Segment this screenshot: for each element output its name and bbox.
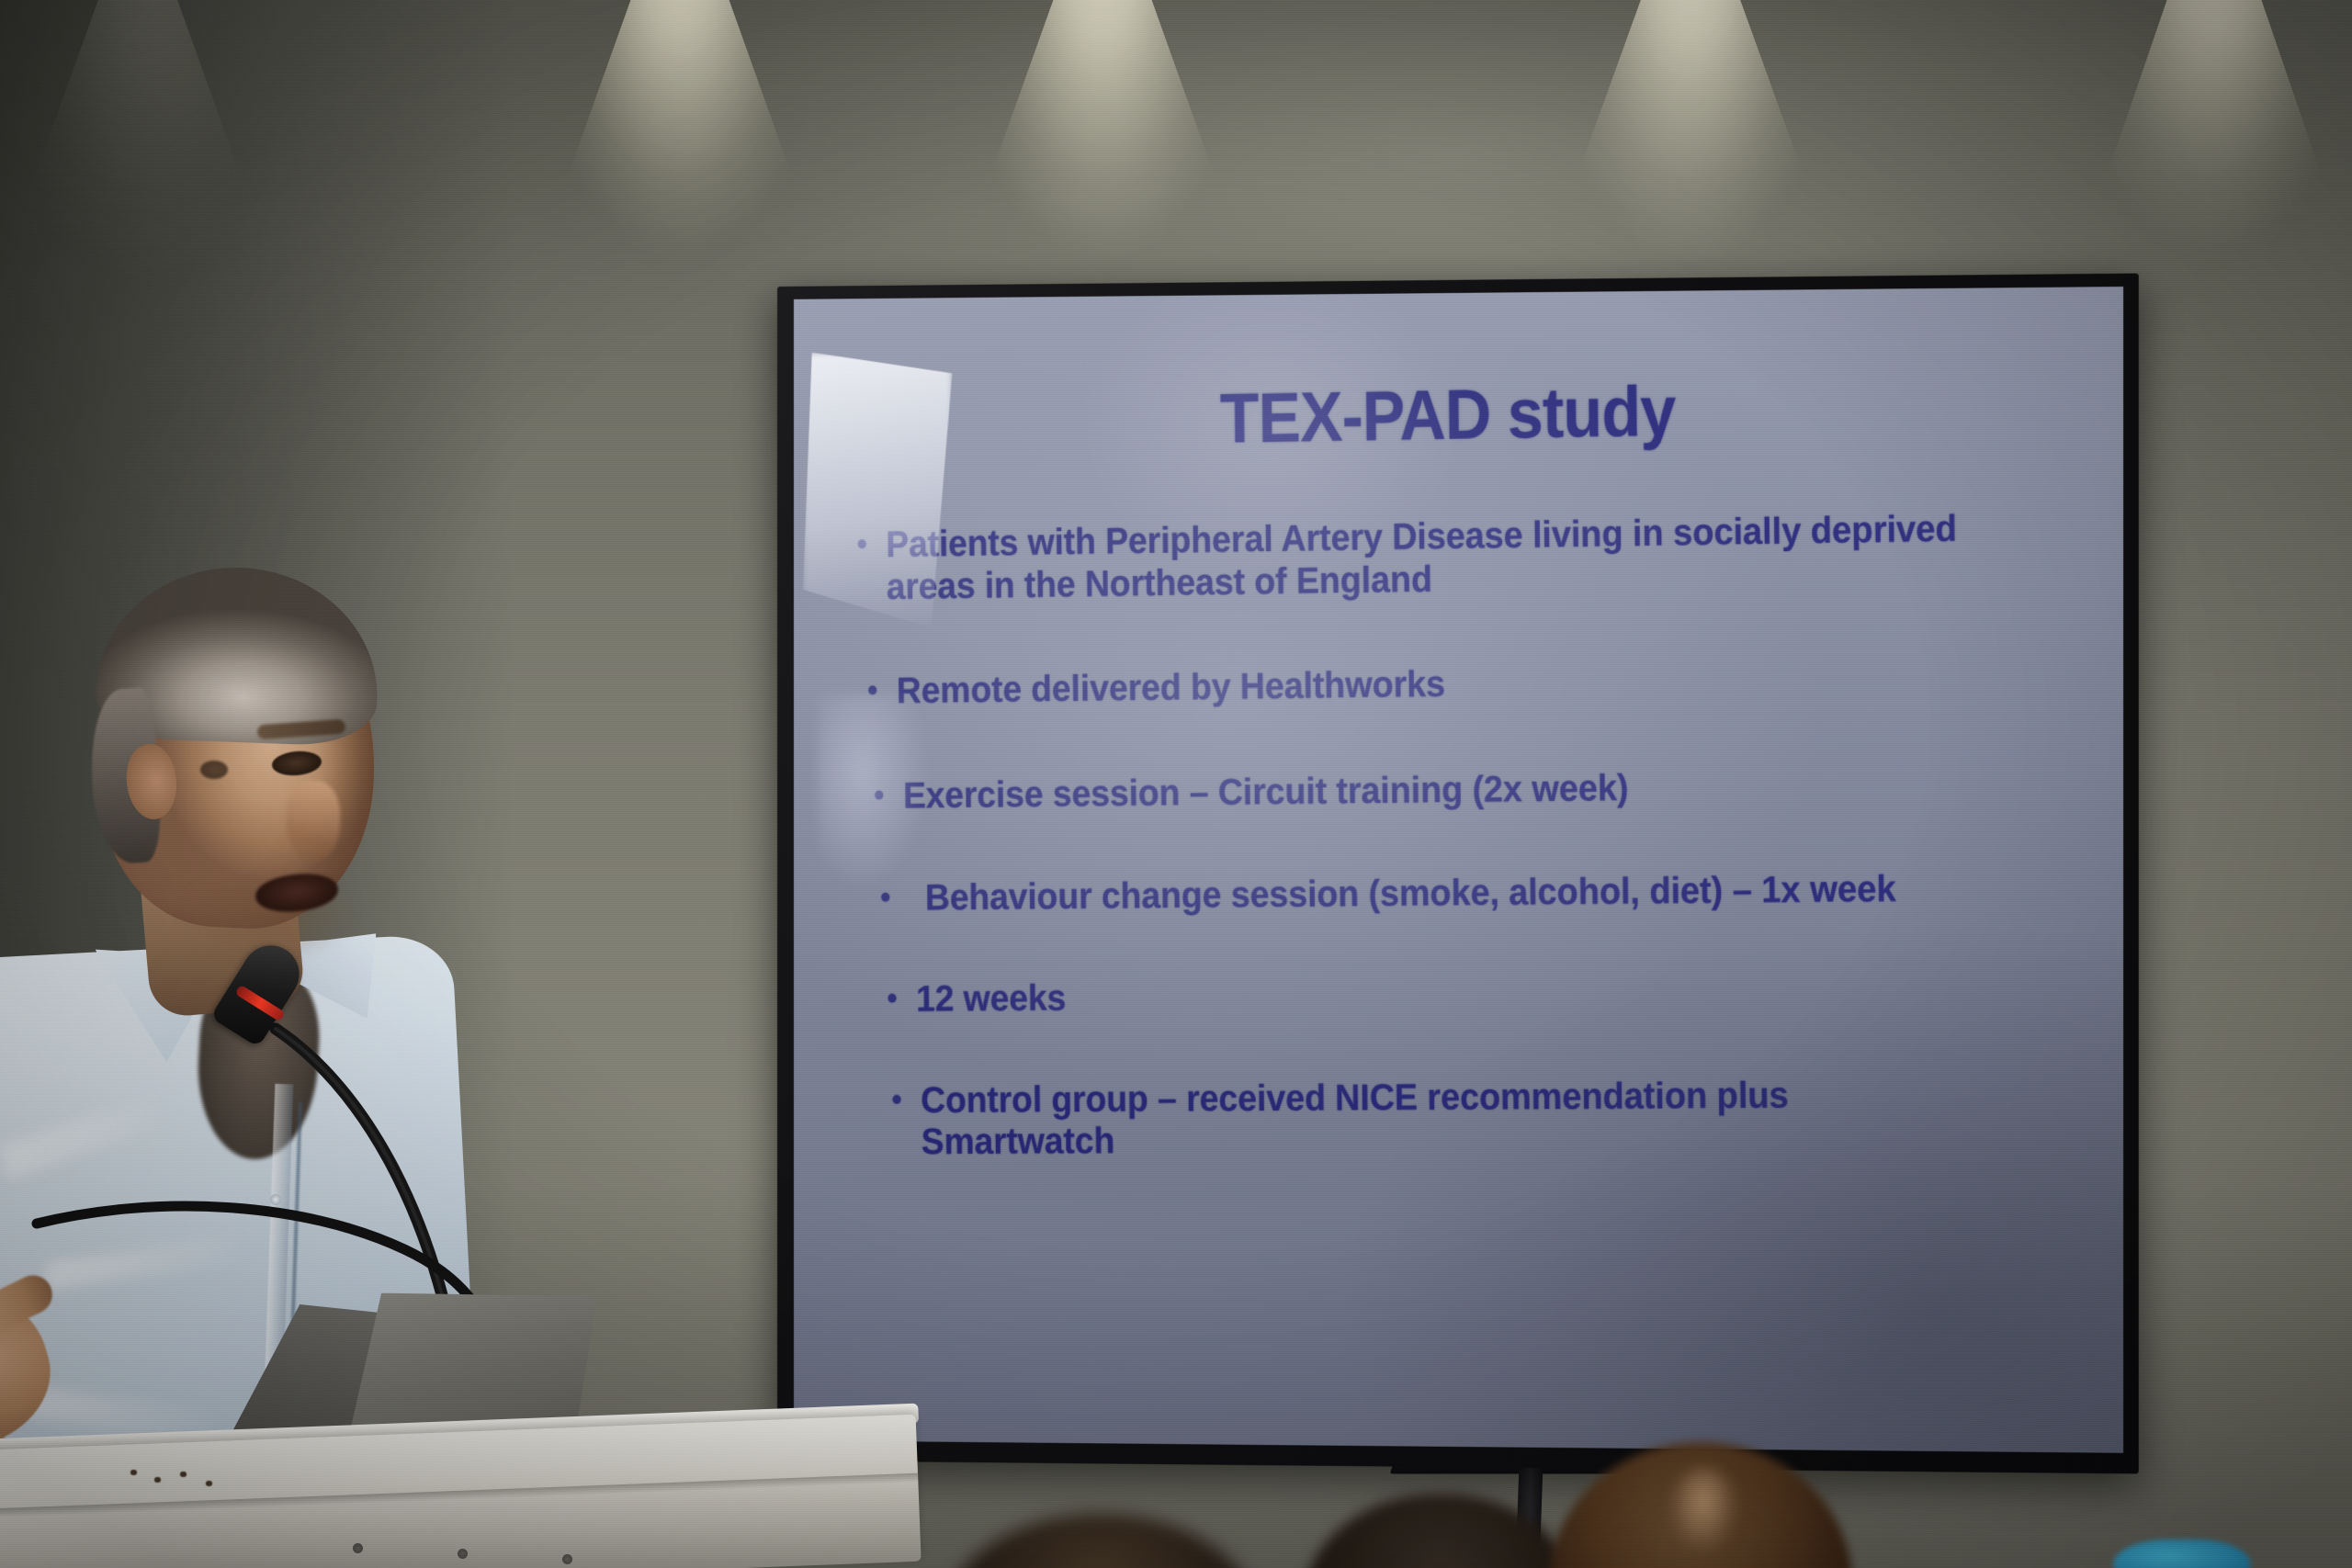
presentation-photo-scene: TEX-PAD study • Patients with Peripheral… — [0, 0, 2352, 1568]
lectern-hole — [353, 1543, 363, 1553]
audience-head-highlight — [1668, 1468, 1738, 1552]
slide-bullet-item: • Exercise session – Circuit training (2… — [874, 763, 1984, 818]
lectern-debris — [130, 1470, 137, 1475]
wall-display: TEX-PAD study • Patients with Peripheral… — [777, 274, 2139, 1474]
speaker-nose — [287, 781, 340, 862]
bullet-marker-icon: • — [891, 1080, 921, 1120]
bullet-marker-icon: • — [887, 979, 916, 1019]
slide-bullet-item: • 12 weeks — [887, 971, 1986, 1021]
lectern-debris — [206, 1481, 212, 1486]
slide-bullet-text: Exercise session – Circuit training (2x … — [903, 763, 1984, 818]
slide-bullet-item: • Behaviour change session (smoke, alcoh… — [880, 868, 1985, 920]
bullet-marker-icon: • — [874, 775, 903, 815]
shirt-button — [270, 1194, 281, 1205]
lectern-hole — [458, 1549, 468, 1559]
lectern-hole — [562, 1554, 572, 1564]
display-screen: TEX-PAD study • Patients with Peripheral… — [794, 287, 2123, 1453]
speaker-eye — [200, 761, 228, 779]
bullet-marker-icon: • — [880, 878, 910, 918]
slide-bullet-text: Remote delivered by Healthworks — [897, 657, 1983, 713]
lectern-debris — [180, 1472, 187, 1477]
slide-bullet-text: Control group – received NICE recommenda… — [921, 1073, 1988, 1164]
bullet-marker-icon: • — [856, 525, 886, 564]
slide-bullet-item: • Control group – received NICE recommen… — [891, 1073, 1988, 1164]
slide-bullet-item: • Remote delivered by Healthworks — [867, 657, 1983, 713]
slide-bullet-text: 12 weeks — [916, 971, 1986, 1021]
presentation-slide: TEX-PAD study • Patients with Peripheral… — [794, 287, 2123, 1447]
lectern-debris — [154, 1477, 161, 1483]
slide-bullet-list: • Patients with Peripheral Artery Diseas… — [856, 506, 2072, 1164]
slide-bullet-item: • Patients with Peripheral Artery Diseas… — [856, 508, 1980, 609]
slide-title: TEX-PAD study — [854, 364, 2052, 465]
slide-bullet-text: Behaviour change session (smoke, alcohol… — [910, 868, 1985, 920]
slide-bullet-text: Patients with Peripheral Artery Disease … — [886, 508, 1981, 609]
bullet-marker-icon: • — [867, 671, 897, 710]
